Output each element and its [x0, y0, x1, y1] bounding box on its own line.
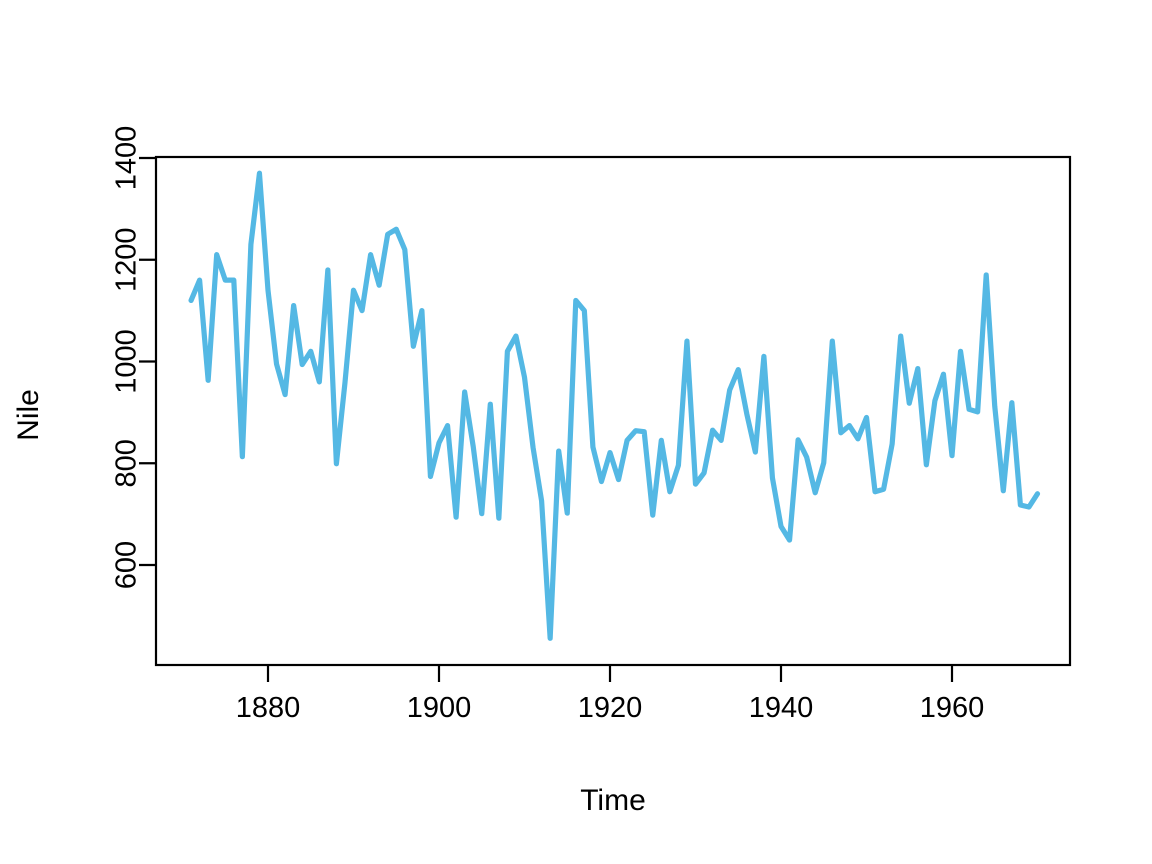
x-tick-label: 1940: [749, 692, 814, 724]
y-tick-label: 1400: [111, 126, 143, 191]
y-axis-title: Nile: [12, 389, 45, 441]
y-tick-label: 800: [111, 439, 143, 487]
nile-series-line: [191, 173, 1037, 638]
y-axis: 600800100012001400: [111, 126, 156, 589]
x-axis: 18801900192019401960: [236, 665, 985, 724]
y-tick-label: 1200: [111, 227, 143, 292]
nile-line-chart: 600800100012001400 18801900192019401960 …: [0, 0, 1152, 864]
x-axis-title: Time: [580, 784, 646, 817]
x-tick-label: 1920: [578, 692, 643, 724]
y-tick-label: 600: [111, 541, 143, 589]
x-tick-label: 1960: [920, 692, 985, 724]
plot-root: 600800100012001400 18801900192019401960 …: [0, 0, 1152, 864]
y-tick-label: 1000: [111, 329, 143, 394]
x-tick-label: 1880: [236, 692, 301, 724]
x-tick-label: 1900: [407, 692, 472, 724]
